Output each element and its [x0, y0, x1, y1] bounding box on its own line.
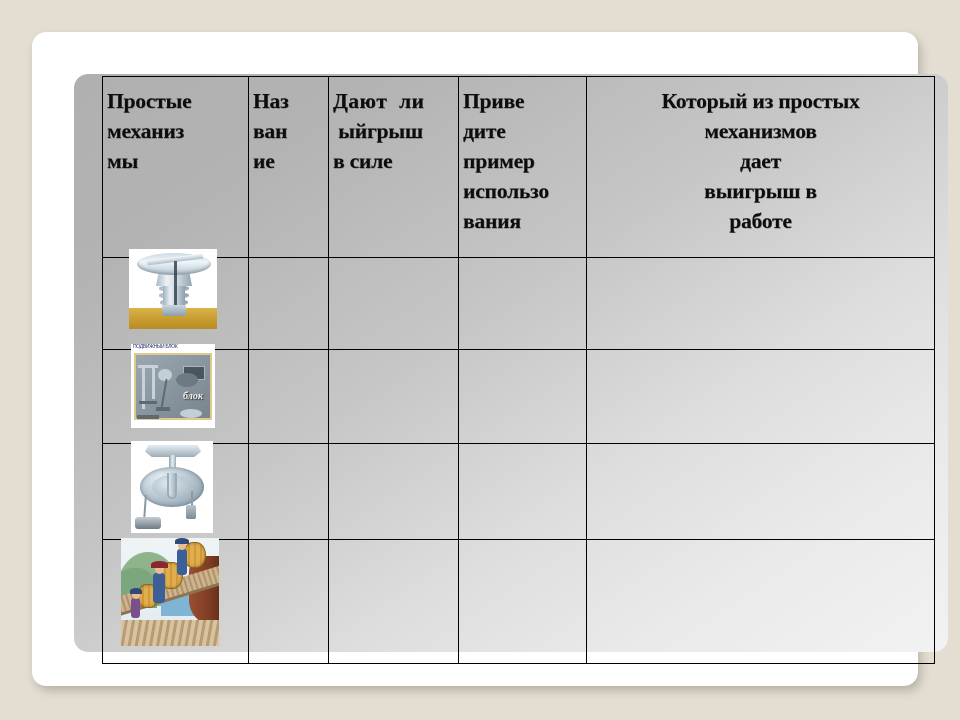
header-line: дает — [593, 146, 928, 176]
header-line: Который из простых — [593, 86, 928, 116]
header-line: механиз — [107, 116, 248, 146]
worker-body — [153, 573, 165, 603]
pulley-lab-photo-image: ПОДВИЖНЫЙ БЛОК — [131, 344, 215, 428]
header-cell-name: Наз ван ие — [249, 77, 329, 258]
stand-weight-shape — [139, 401, 157, 404]
dock-deck-shape — [121, 620, 219, 646]
screw-in-wood-image — [129, 249, 217, 329]
row-force-gain-cell[interactable] — [329, 444, 459, 540]
header-cell-force-gain: Дают ли ыйгрыш в силе — [329, 77, 459, 258]
header-line: вания — [463, 206, 586, 236]
simple-machines-table: Простые механиз мы Наз ван ие Дают ли ый… — [102, 76, 935, 664]
pulley-hook-shape — [167, 473, 177, 499]
row-name-cell[interactable] — [249, 258, 329, 350]
stand-rod-shape — [152, 365, 155, 399]
weight-plate-shape — [135, 517, 161, 529]
row-force-gain-cell[interactable] — [329, 540, 459, 664]
header-line: ие — [253, 146, 328, 176]
pan-shape — [180, 409, 202, 418]
table-row — [103, 540, 935, 664]
row-work-gain-cell[interactable] — [587, 350, 935, 444]
row-image-cell: ПОДВИЖНЫЙ БЛОК — [103, 350, 249, 444]
row-image-cell — [103, 540, 249, 664]
worker-hat — [130, 588, 142, 594]
photo-frame: блок — [134, 353, 212, 420]
table-header-row: Простые механиз мы Наз ван ие Дают ли ый… — [103, 77, 935, 258]
image-holder — [103, 444, 248, 539]
row-name-cell[interactable] — [249, 444, 329, 540]
screw-shadow-line — [174, 261, 177, 309]
header-line: Простые — [107, 86, 248, 116]
image-caption: ПОДВИЖНЫЙ БЛОК — [133, 344, 213, 352]
worker-body — [177, 549, 187, 575]
slide-canvas: Простые механиз мы Наз ван ие Дают ли ый… — [0, 0, 960, 720]
row-work-gain-cell[interactable] — [587, 258, 935, 350]
image-holder — [103, 258, 248, 349]
header-cell-simple-machines: Простые механиз мы — [103, 77, 249, 258]
header-line: выигрыш в — [593, 176, 928, 206]
header-line: Дают ли — [333, 86, 458, 116]
row-usage-cell[interactable] — [459, 444, 587, 540]
header-cell-work-gain: Который из простых механизмов дает выигр… — [587, 77, 935, 258]
row-image-cell — [103, 444, 249, 540]
stand-top-shape — [138, 365, 158, 368]
row-image-cell — [103, 258, 249, 350]
header-line: пример — [463, 146, 586, 176]
header-line: ыйгрыш — [333, 116, 458, 146]
table-row — [103, 258, 935, 350]
content-card: Простые механиз мы Наз ван ие Дают ли ый… — [32, 32, 918, 686]
header-line: мы — [107, 146, 248, 176]
small-weight-shape — [186, 505, 196, 519]
image-holder — [103, 540, 248, 663]
row-name-cell[interactable] — [249, 540, 329, 664]
table-row: ПОДВИЖНЫЙ БЛОК — [103, 350, 935, 444]
worker-hat — [151, 561, 168, 568]
row-usage-cell[interactable] — [459, 258, 587, 350]
worker-hat — [175, 538, 189, 544]
header-line: механизмов — [593, 116, 928, 146]
hanging-weight-shape — [156, 407, 170, 411]
row-usage-cell[interactable] — [459, 540, 587, 664]
stand-base-shape — [137, 415, 159, 419]
image-label: блок — [183, 391, 203, 402]
header-line: дите — [463, 116, 586, 146]
header-line: Наз — [253, 86, 328, 116]
row-force-gain-cell[interactable] — [329, 258, 459, 350]
screw-tip-nut-shape — [162, 305, 186, 316]
fixed-pulley-image — [131, 441, 213, 533]
row-work-gain-cell[interactable] — [587, 444, 935, 540]
row-name-cell[interactable] — [249, 350, 329, 444]
inclined-plane-barrels-image — [121, 538, 219, 646]
header-cell-usage-example: Приве дите пример использо вания — [459, 77, 587, 258]
cord-shape — [160, 379, 167, 409]
header-line: ван — [253, 116, 328, 146]
image-holder: ПОДВИЖНЫЙ БЛОК — [103, 350, 248, 443]
header-line: Приве — [463, 86, 586, 116]
header-line: работе — [593, 206, 928, 236]
header-line: в силе — [333, 146, 458, 176]
table-row — [103, 444, 935, 540]
row-force-gain-cell[interactable] — [329, 350, 459, 444]
row-usage-cell[interactable] — [459, 350, 587, 444]
row-work-gain-cell[interactable] — [587, 540, 935, 664]
worker-body — [131, 598, 140, 618]
header-line: использо — [463, 176, 586, 206]
movable-pulley-shape — [176, 373, 198, 387]
